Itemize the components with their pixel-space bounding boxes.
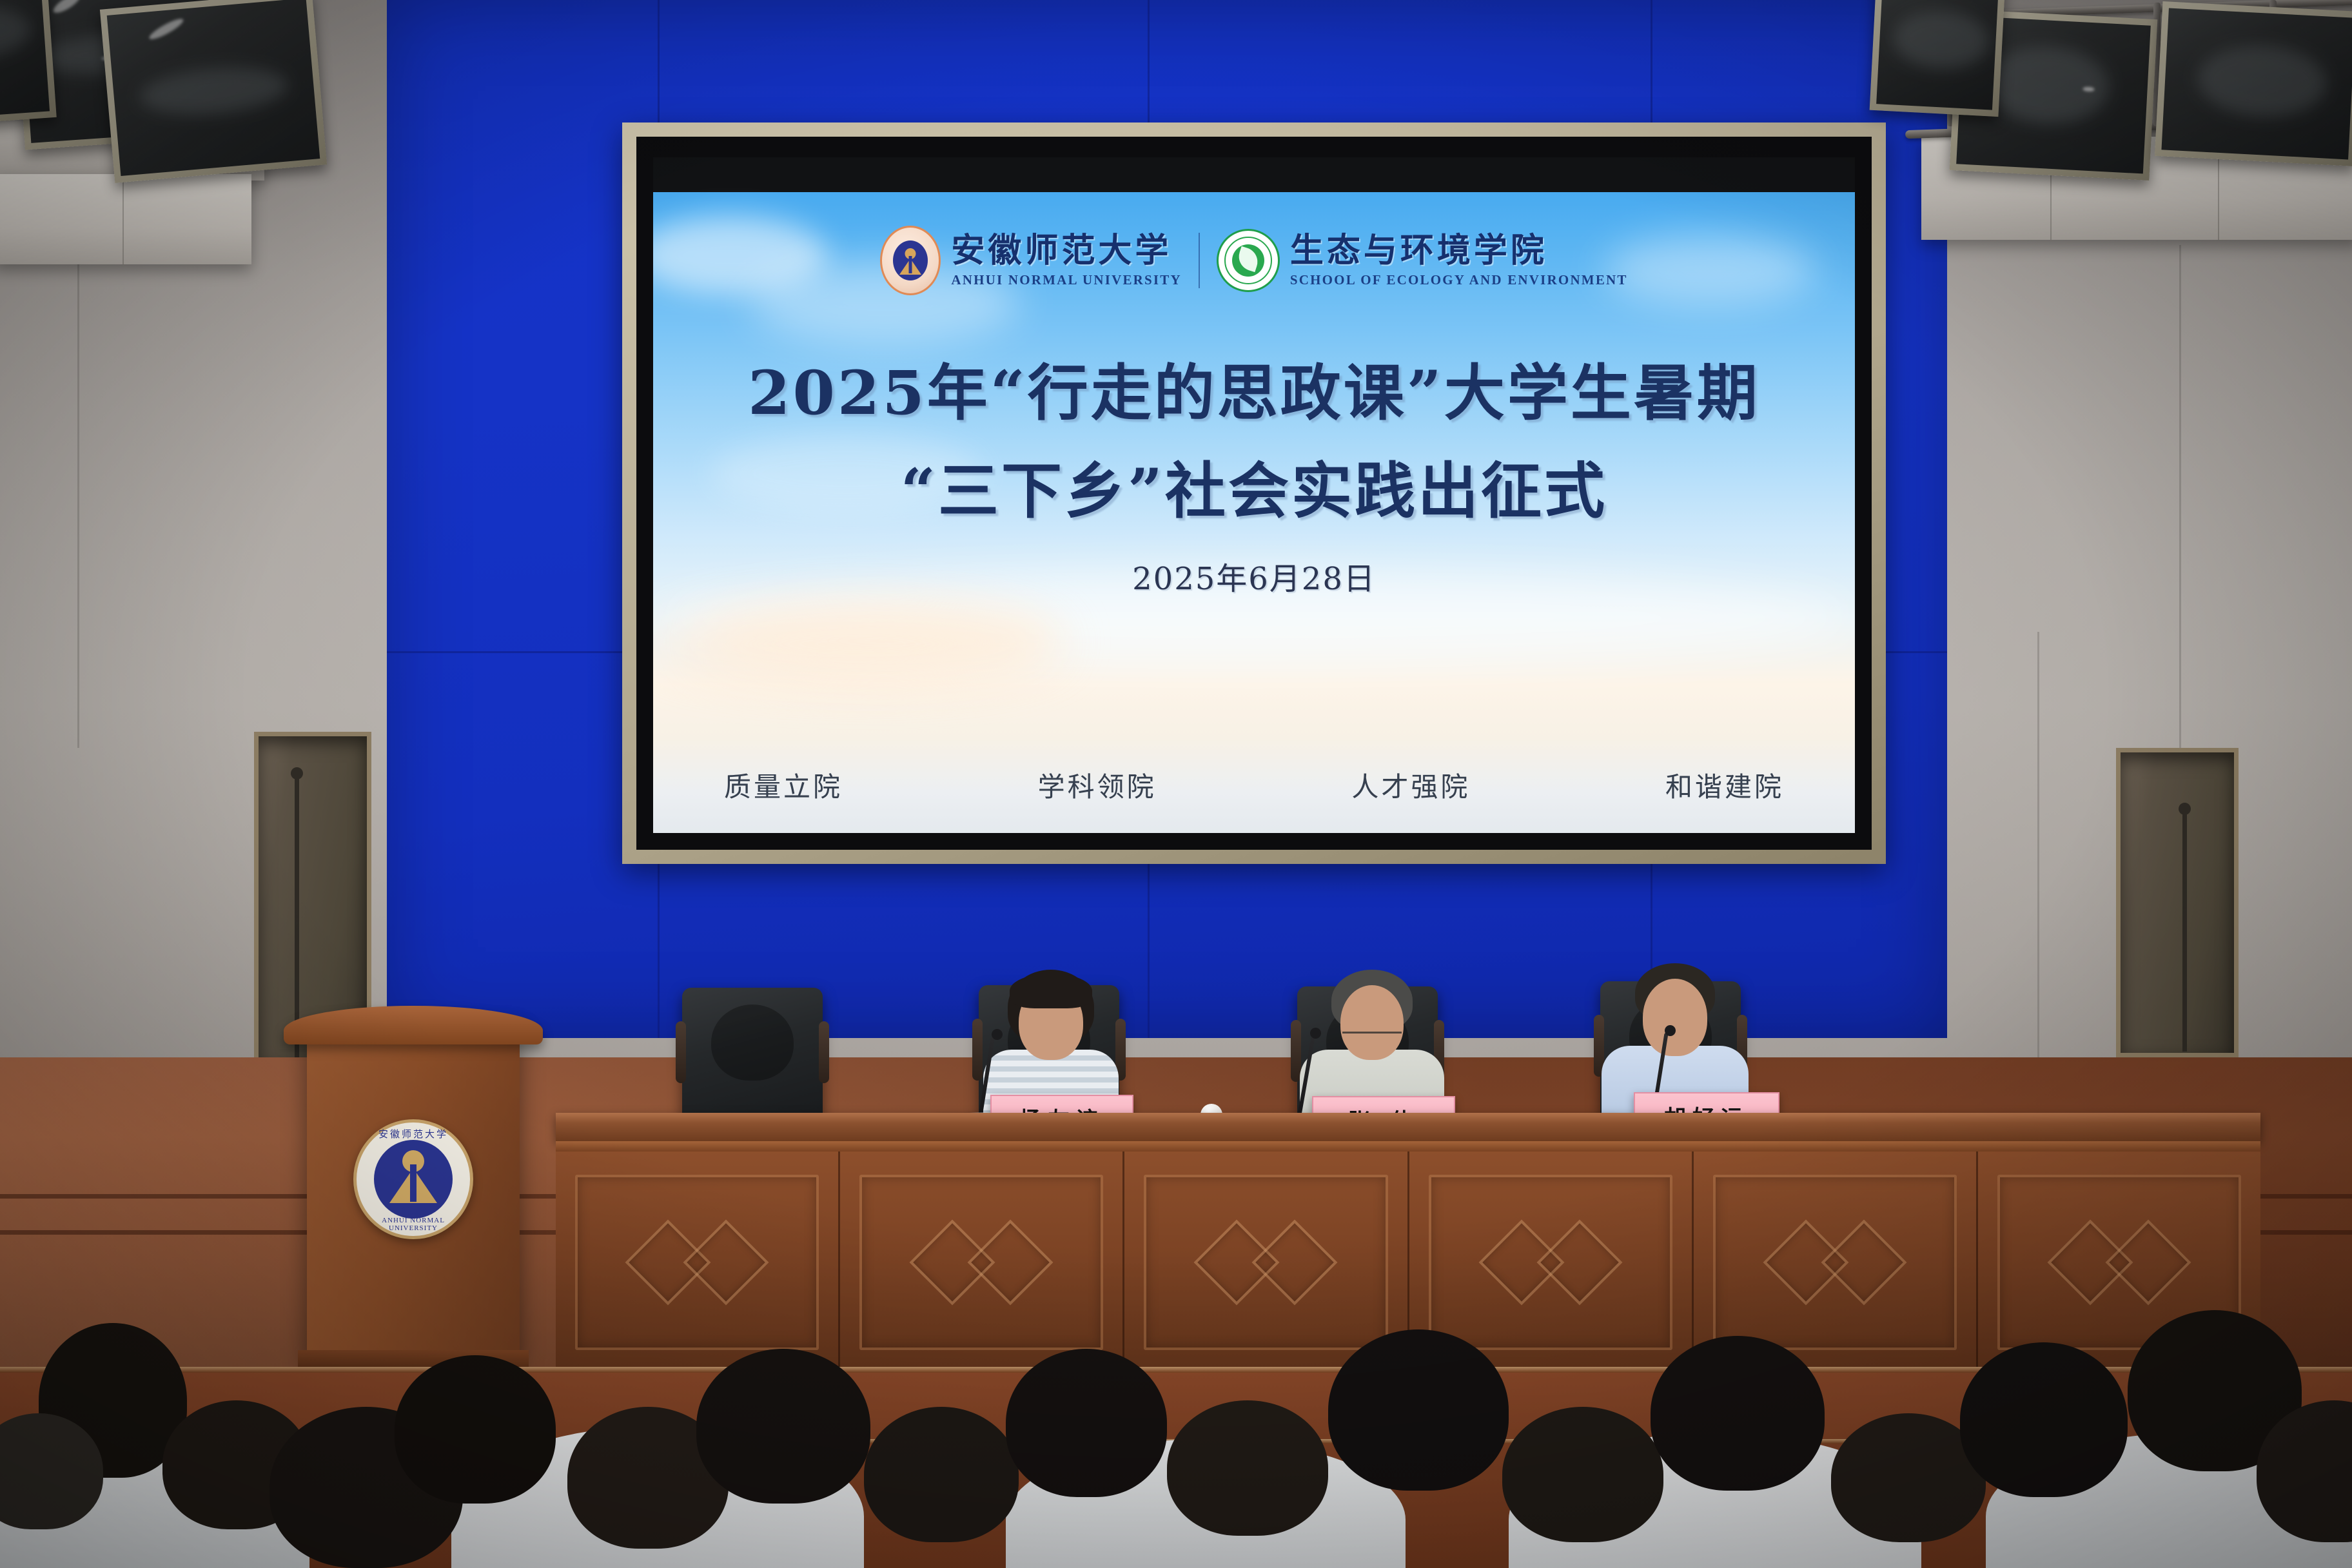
person-head <box>1643 979 1707 1056</box>
ceiling-speaker <box>0 0 57 128</box>
wall-seam <box>2037 632 2039 1083</box>
slide-logo-row: 安徽师范大学 ANHUI NORMAL UNIVERSITY <box>653 226 1855 295</box>
slogan-item: 和谐建院 <box>1665 765 1784 805</box>
podium-university-emblem-icon: 安徽师范大学 1928 ANHUI NORMAL UNIVERSITY <box>353 1119 473 1239</box>
left-balcony-panel <box>0 174 251 264</box>
podium-emblem-cn: 安徽师范大学 <box>357 1127 470 1141</box>
right-stage-doorway <box>2116 748 2239 1057</box>
slide-date: 2025年6月28日 <box>653 553 1855 598</box>
university-name-en: ANHUI NORMAL UNIVERSITY <box>951 273 1181 287</box>
school-of-ecology-and-environment-seal-icon <box>1217 229 1280 292</box>
table-lip <box>556 1141 2260 1151</box>
microphone-head-icon <box>992 1029 1003 1040</box>
projection-screen-frame: 安徽师范大学 ANHUI NORMAL UNIVERSITY <box>622 122 1886 864</box>
wall-seam <box>2179 245 2181 774</box>
podium-emblem-inner: 1928 <box>374 1140 453 1219</box>
audience-head <box>864 1407 1019 1542</box>
school-name-en: SCHOOL OF ECOLOGY AND ENVIRONMENT <box>1290 273 1628 287</box>
university-name-cn: 安徽师范大学 <box>951 234 1181 268</box>
slogan-item: 人才强院 <box>1351 765 1470 805</box>
slide-slogans: 质量立院 学科领院 人才强院 和谐建院 <box>724 765 1784 805</box>
vacant-chair <box>682 988 823 1131</box>
person-head <box>1340 985 1404 1060</box>
audience-head <box>1651 1336 1825 1491</box>
anhui-normal-university-seal-icon <box>880 226 941 295</box>
door-mic-head <box>291 767 303 779</box>
person-hair-fringe <box>1010 974 1092 1008</box>
audience-head <box>1502 1407 1663 1542</box>
door-mic-stand <box>2182 812 2187 1052</box>
conference-hall-photo: 安徽师范大学 ANHUI NORMAL UNIVERSITY <box>0 0 2352 1568</box>
university-logo-text: 安徽师范大学 ANHUI NORMAL UNIVERSITY <box>951 234 1181 287</box>
slogan-item: 学科领院 <box>1038 765 1157 805</box>
school-logo: 生态与环境学院 SCHOOL OF ECOLOGY AND ENVIRONMEN… <box>1217 229 1628 292</box>
slide-title-line1: 2025年“行走的思政课”大学生暑期 <box>653 344 1855 442</box>
microphone-head-icon <box>1665 1025 1676 1036</box>
audience-head <box>696 1349 870 1504</box>
slogan-item: 质量立院 <box>724 765 843 805</box>
slide-title: 2025年“行走的思政课”大学生暑期 “三下乡”社会实践出征式 <box>653 344 1855 541</box>
person-glasses-icon <box>1342 1032 1402 1034</box>
balcony-seam <box>122 174 124 264</box>
wall-seam <box>77 258 79 748</box>
screen-letterbox <box>653 157 1855 192</box>
podium-emblem-en: ANHUI NORMAL UNIVERSITY <box>357 1217 470 1232</box>
school-logo-text: 生态与环境学院 SCHOOL OF ECOLOGY AND ENVIRONMEN… <box>1290 234 1628 287</box>
ceiling-speaker <box>2155 1 2352 166</box>
projection-screen-image: 安徽师范大学 ANHUI NORMAL UNIVERSITY <box>653 157 1855 833</box>
audience-row <box>0 1259 2352 1568</box>
logo-divider <box>1199 233 1200 288</box>
table-top-surface <box>556 1113 2260 1141</box>
audience-head <box>1006 1349 1167 1497</box>
door-mic-stand <box>295 775 299 1059</box>
audience-head <box>1960 1342 2128 1497</box>
audience-head <box>395 1355 556 1504</box>
ceiling-speaker <box>1870 0 2006 117</box>
ceiling-speaker <box>100 0 327 183</box>
university-logo: 安徽师范大学 ANHUI NORMAL UNIVERSITY <box>880 226 1181 295</box>
microphone-head-icon <box>1310 1028 1321 1039</box>
slide-content: 安徽师范大学 ANHUI NORMAL UNIVERSITY <box>653 192 1855 833</box>
school-name-cn: 生态与环境学院 <box>1290 234 1628 268</box>
audience-head <box>1167 1400 1328 1536</box>
audience-head <box>1328 1329 1509 1491</box>
door-mic-head <box>2179 803 2191 815</box>
slide-title-line2: “三下乡”社会实践出征式 <box>653 442 1855 540</box>
